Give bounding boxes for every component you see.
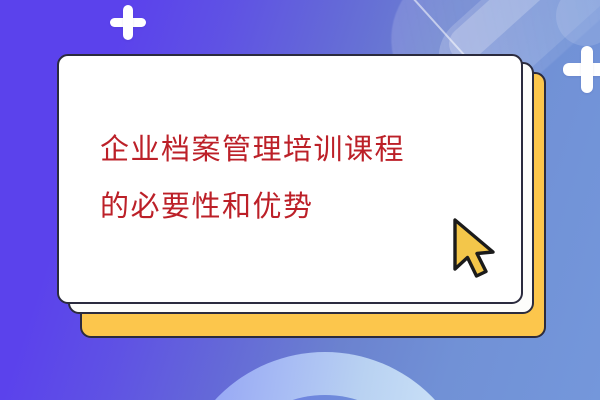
plus-icon-bar-vertical <box>123 5 132 40</box>
title-card-graphic: 企业档案管理培训课程 的必要性和优势 <box>0 0 600 400</box>
plus-icon-bar-vertical <box>581 46 593 93</box>
mouse-pointer-icon <box>446 216 502 282</box>
plus-icon <box>110 5 146 40</box>
plus-icon <box>563 46 600 93</box>
headline-line-1: 企业档案管理培训课程 <box>100 136 523 165</box>
